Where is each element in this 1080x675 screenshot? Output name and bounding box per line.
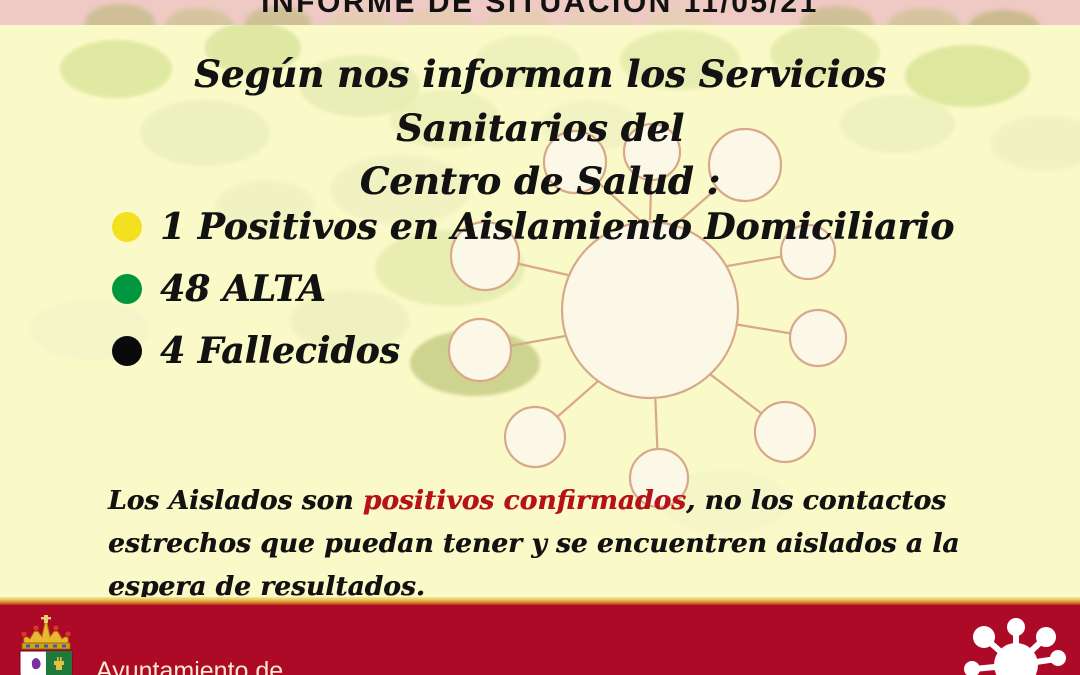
stat-label: 4 Fallecidos bbox=[160, 330, 400, 372]
covid-status-poster: INFORME DE SITUACIÓN 11/05/21 Según nos … bbox=[0, 0, 1080, 675]
list-item: 4 Fallecidos bbox=[112, 320, 872, 382]
headline: Según nos informan los Servicios Sanitar… bbox=[90, 48, 990, 209]
stat-label: 1 Positivos en Aislamiento Domiciliario bbox=[160, 206, 954, 248]
footer-band: Ayuntamiento de bbox=[0, 605, 1080, 675]
municipality-name: Ayuntamiento de bbox=[96, 657, 283, 675]
note-part-1: Los Aislados son bbox=[108, 485, 363, 516]
bullet-dot-icon bbox=[112, 336, 142, 366]
footer-gold-stripe bbox=[0, 597, 1080, 605]
poster-content: Según nos informan los Servicios Sanitar… bbox=[0, 0, 1080, 675]
disclaimer-note: Los Aislados son positivos confirmados, … bbox=[108, 480, 988, 609]
headline-line-1: Según nos informan los Servicios Sanitar… bbox=[90, 48, 990, 155]
stats-list: 1 Positivos en Aislamiento Domiciliario … bbox=[112, 196, 872, 382]
bullet-dot-icon bbox=[112, 274, 142, 304]
note-highlight: positivos confirmados bbox=[363, 485, 686, 516]
coat-of-arms-icon bbox=[8, 613, 84, 675]
list-item: 48 ALTA bbox=[112, 258, 872, 320]
list-item: 1 Positivos en Aislamiento Domiciliario bbox=[112, 196, 872, 258]
bullet-dot-icon bbox=[112, 212, 142, 242]
virus-icon bbox=[964, 613, 1068, 675]
stat-label: 48 ALTA bbox=[160, 268, 326, 310]
poster-title: INFORME DE SITUACIÓN 11/05/21 bbox=[0, 0, 1080, 20]
